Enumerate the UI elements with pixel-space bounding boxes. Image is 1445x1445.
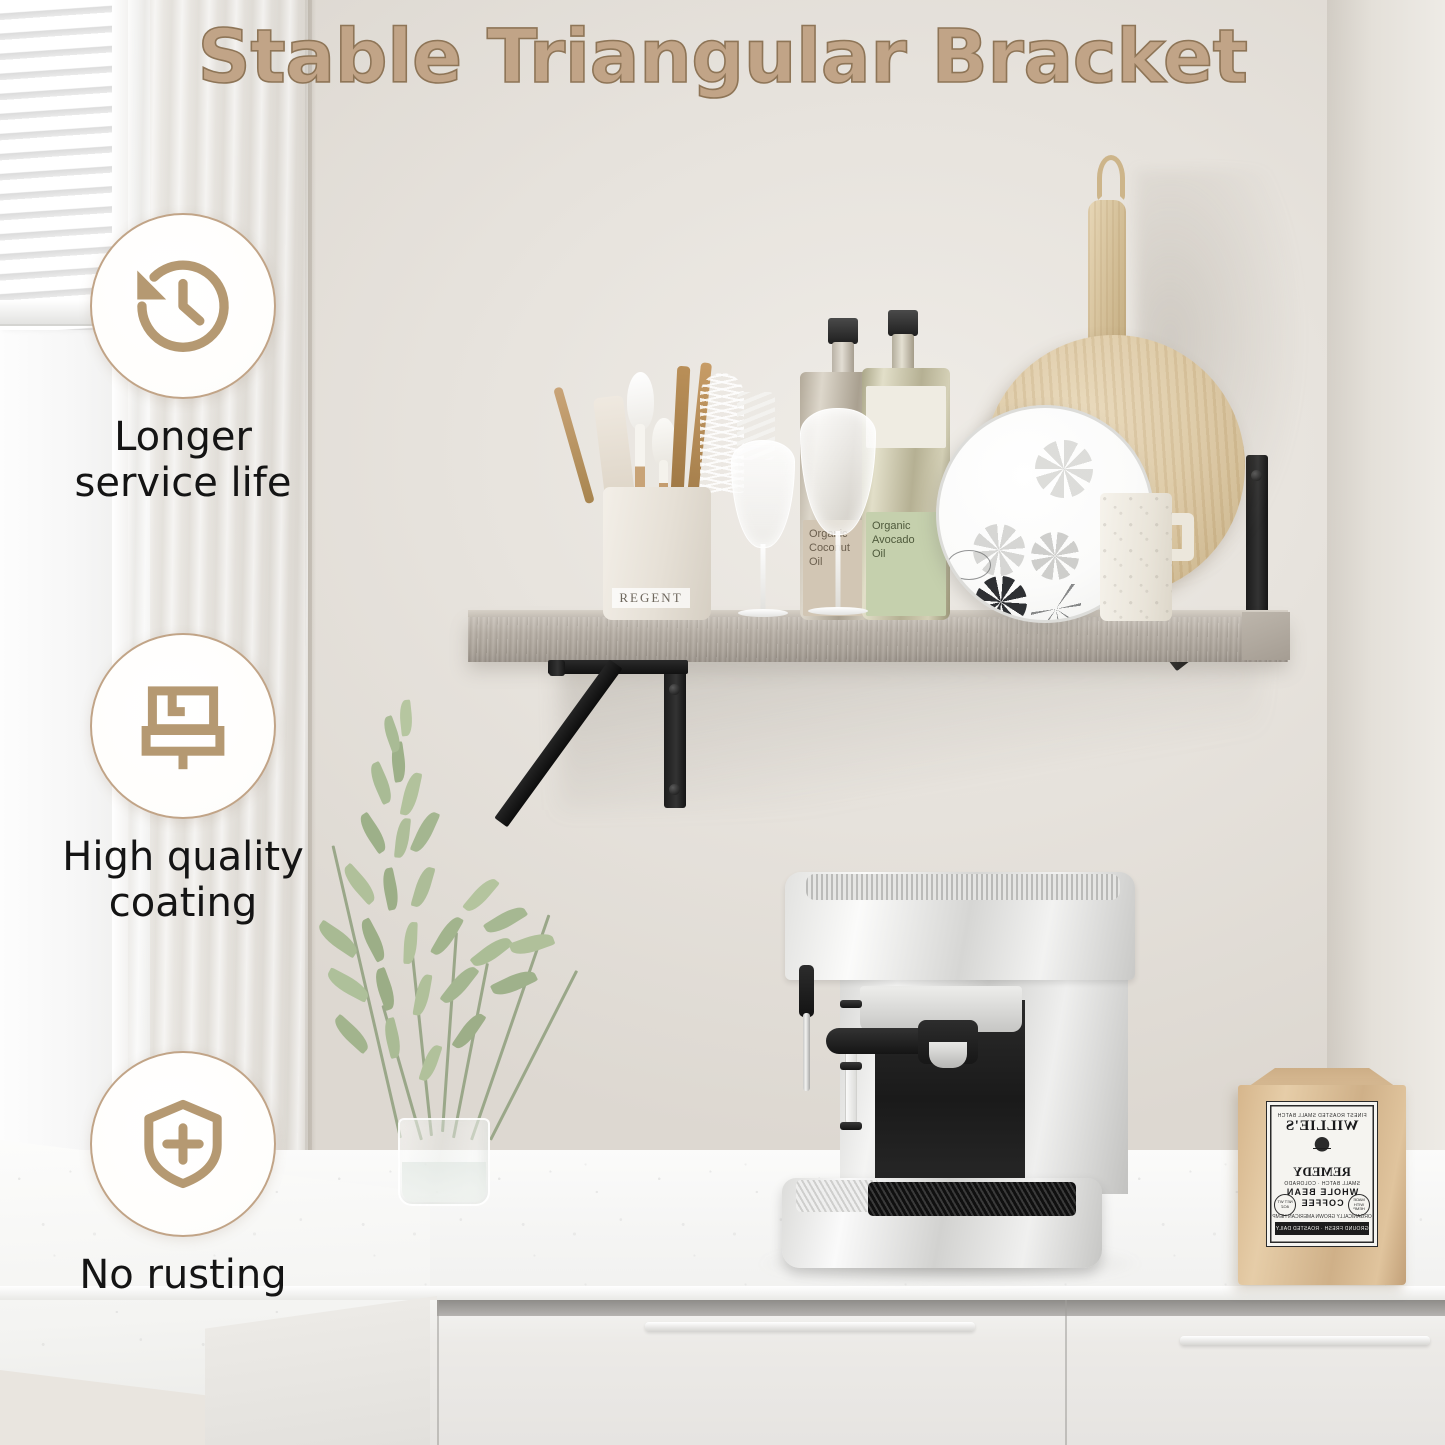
feature-no-rusting: No rusting bbox=[33, 1051, 333, 1299]
avocado-oil-label-line3: Oil bbox=[872, 548, 940, 562]
shield-plus-icon bbox=[129, 1090, 237, 1198]
coffee-bag-label: FINEST ROASTED SMALL BATCH WILLIE'S REME… bbox=[1266, 1101, 1378, 1247]
paint-brush-icon bbox=[129, 672, 237, 780]
utensil-crock-brand-label: REGENT bbox=[612, 588, 690, 608]
cabinet-handle-right bbox=[1180, 1336, 1430, 1345]
cutting-board-hanging-loop bbox=[1097, 155, 1125, 201]
feature-label-3: No rusting bbox=[33, 1253, 333, 1299]
feature-label-1-line1: Longer bbox=[33, 415, 333, 461]
plate-ellipse-mark bbox=[947, 550, 991, 580]
coffee-bag-brand: WILLIE'S bbox=[1285, 1119, 1358, 1134]
coffee-cup-icon bbox=[1313, 1137, 1331, 1163]
coffee-bag-bottom-bar: GROUND FRESH · ROASTED DAILY bbox=[1275, 1222, 1369, 1235]
bracket-left-screw-top bbox=[669, 684, 680, 695]
espresso-machine-cup-warmer-grill bbox=[806, 874, 1120, 900]
feature-label-1: Longer service life bbox=[33, 415, 333, 506]
avocado-oil-bottle-cap bbox=[888, 310, 918, 336]
wine-glass-front bbox=[731, 440, 795, 620]
espresso-machine-knob-3 bbox=[840, 1122, 862, 1130]
espresso-machine-drip-tray-left bbox=[796, 1180, 878, 1212]
coffee-bag-line4: COFFEE bbox=[1300, 1198, 1343, 1210]
feature-label-3-line1: No rusting bbox=[33, 1253, 333, 1299]
coconut-oil-bottle-cap bbox=[828, 318, 858, 344]
feature-label-2-line2: coating bbox=[33, 881, 333, 927]
bracket-left-screw-bottom bbox=[669, 784, 680, 795]
wine-glass-back bbox=[800, 408, 876, 620]
bracket-left-arm-tip bbox=[549, 660, 565, 676]
product-marketing-image: REGENT Organic Coconut Oil Organic Avoca… bbox=[0, 0, 1445, 1445]
coffee-bag-badge-right: NET WT 8OZ bbox=[1274, 1194, 1296, 1216]
coffee-bag-line2: REMEDY bbox=[1293, 1165, 1351, 1179]
feature-badge-1 bbox=[90, 213, 276, 399]
feature-badge-2 bbox=[90, 633, 276, 819]
wine-glass-front-stem bbox=[761, 544, 766, 609]
wine-glass-back-foot bbox=[808, 607, 868, 615]
coffee-bag-badge-left: MADE WITH HEMP bbox=[1348, 1194, 1370, 1216]
utensil-spoon-head-1 bbox=[627, 372, 654, 430]
cabinet-seam-1 bbox=[437, 1300, 439, 1445]
avocado-oil-label-line1: Organic bbox=[872, 520, 940, 534]
coffee-bag-line3: WHOLE BEAN bbox=[1286, 1187, 1359, 1199]
page-title: Stable Triangular Bracket bbox=[0, 14, 1445, 100]
plate-daisy-outline bbox=[1031, 584, 1081, 623]
cabinet-seam-2 bbox=[1065, 1300, 1067, 1445]
avocado-oil-label-line2: Avocado bbox=[872, 534, 940, 548]
shelf-board-right-end bbox=[1242, 612, 1290, 660]
cabinet-reveal-gap bbox=[437, 1300, 1445, 1316]
feature-label-1-line2: service life bbox=[33, 461, 333, 507]
espresso-machine-knob-1 bbox=[840, 1000, 862, 1008]
espresso-machine-steam-wand-grip bbox=[799, 965, 814, 1017]
feature-longer-service-life: Longer service life bbox=[33, 213, 333, 506]
avocado-oil-bottle-label: Organic Avocado Oil bbox=[866, 512, 946, 616]
feature-badge-3 bbox=[90, 1051, 276, 1237]
feature-label-2-line1: High quality bbox=[33, 835, 333, 881]
wine-glass-back-bowl bbox=[800, 408, 876, 535]
cabinet-handle-left bbox=[645, 1322, 975, 1331]
history-clock-icon bbox=[127, 250, 239, 362]
espresso-machine-knob-2 bbox=[840, 1062, 862, 1070]
shelf-board bbox=[468, 617, 1288, 662]
avocado-oil-top-label bbox=[866, 386, 946, 448]
feature-high-quality-coating: High quality coating bbox=[33, 633, 333, 926]
espresso-machine-drip-tray bbox=[868, 1182, 1076, 1216]
plate-daisy-light-1 bbox=[1035, 440, 1093, 498]
espresso-machine-portafilter-spout bbox=[929, 1042, 967, 1068]
speckled-mug bbox=[1100, 493, 1172, 621]
glass-vase-water bbox=[402, 1162, 486, 1202]
feature-label-2: High quality coating bbox=[33, 835, 333, 926]
wine-glass-front-bowl bbox=[731, 440, 795, 548]
plate-daisy-light-3 bbox=[1031, 532, 1079, 580]
espresso-machine-steam-wand-tube bbox=[803, 1013, 810, 1091]
wine-glass-back-stem bbox=[836, 531, 841, 607]
wine-glass-front-foot bbox=[738, 609, 788, 617]
plate-daisy-dark bbox=[975, 576, 1027, 623]
